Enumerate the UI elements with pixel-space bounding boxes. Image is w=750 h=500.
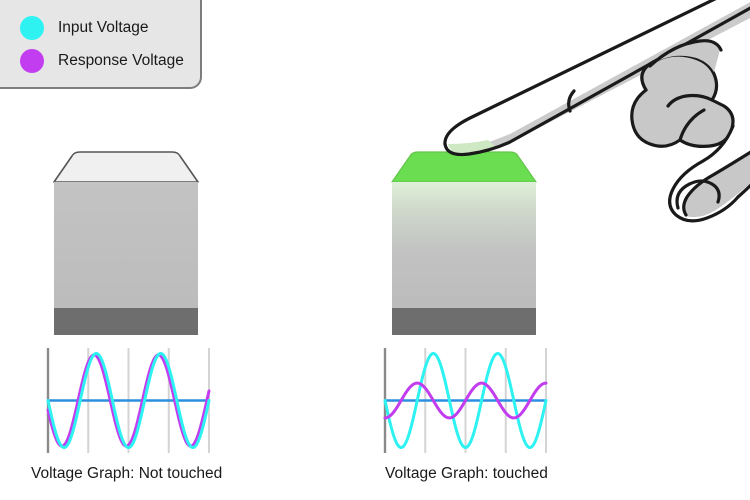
circle-swatch-icon: [20, 49, 44, 73]
circle-swatch-icon: [20, 16, 44, 40]
sensor-base: [54, 308, 198, 335]
legend-item-label: Input Voltage: [58, 20, 149, 36]
caption-not-touched: Voltage Graph: Not touched: [31, 466, 222, 482]
voltage-graph-touched: [385, 348, 550, 453]
sensor-body: [54, 182, 198, 308]
caption-touched: Voltage Graph: touched: [385, 466, 548, 482]
legend-item-label: Response Voltage: [58, 53, 184, 69]
sensor-block-not-touched: [50, 146, 202, 336]
sensor-base: [392, 308, 536, 335]
voltage-graph-not-touched: [48, 348, 213, 453]
sensor-top-face: [54, 152, 198, 182]
hand-pointing-illustration: [424, 0, 750, 234]
legend-item-input-voltage: Input Voltage: [20, 16, 149, 40]
legend-panel: Input Voltage Response Voltage: [0, 0, 202, 89]
legend-item-response-voltage: Response Voltage: [20, 49, 184, 73]
